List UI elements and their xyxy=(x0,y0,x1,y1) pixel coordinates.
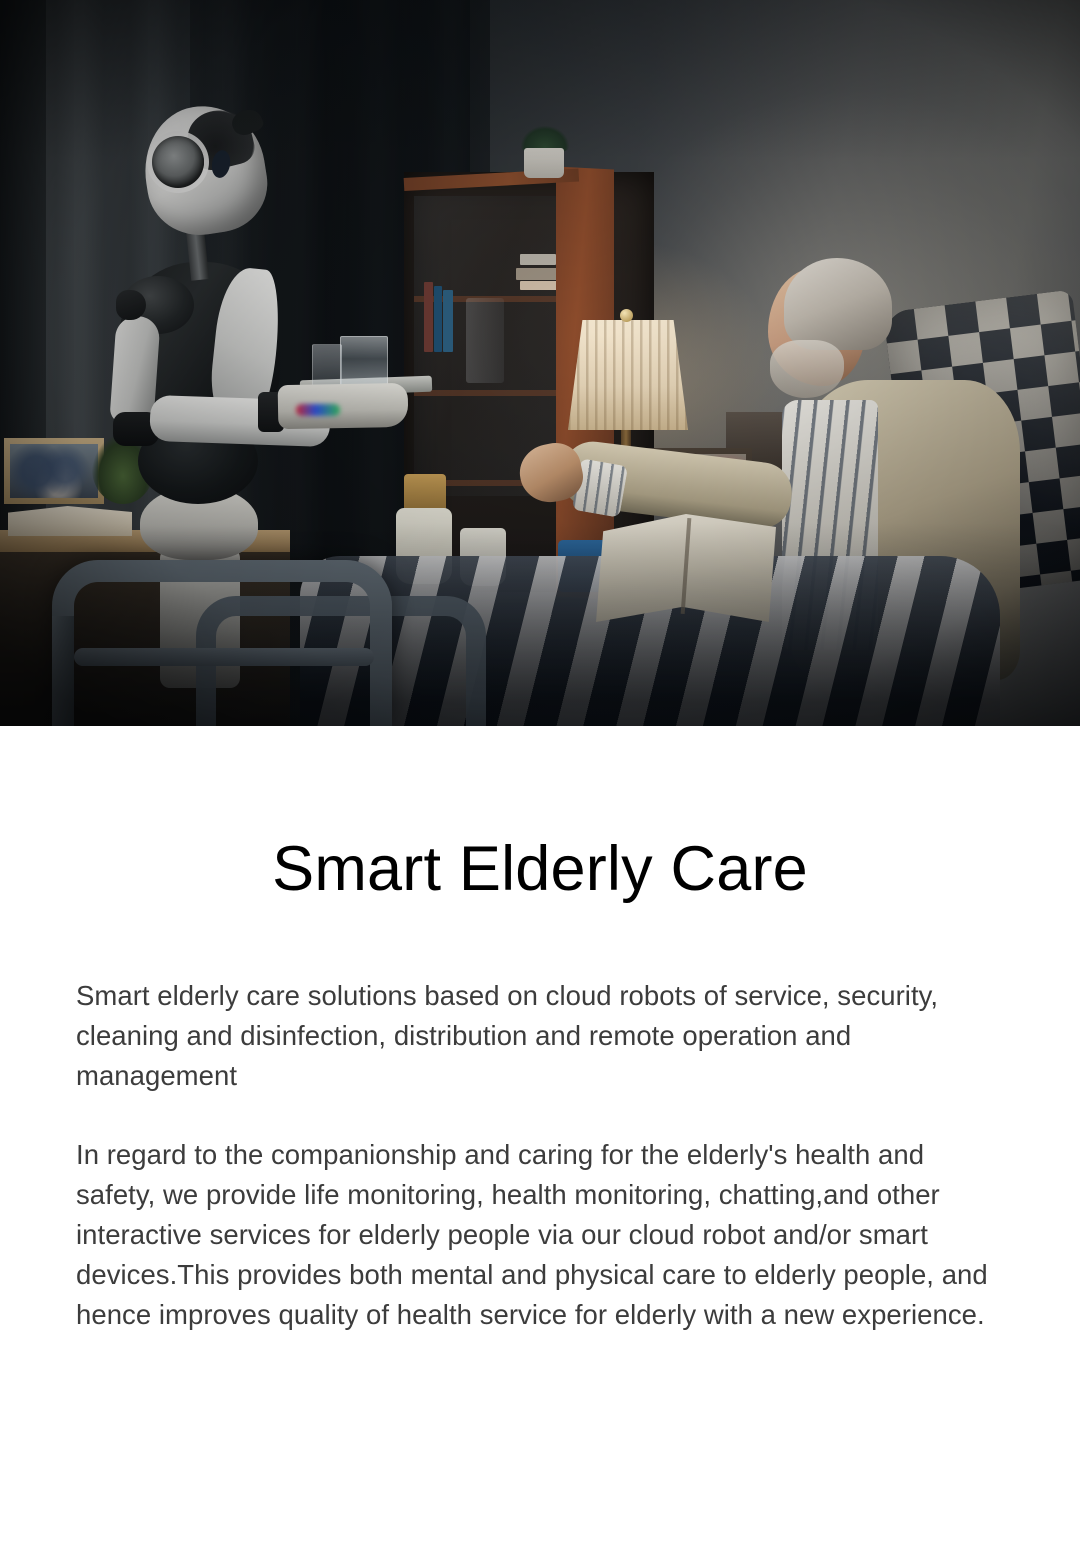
paragraph-1: Smart elderly care solutions based on cl… xyxy=(76,976,1004,1096)
bed-rail-post xyxy=(52,616,74,726)
hero-image xyxy=(0,0,1080,726)
robot-left-hand xyxy=(116,290,146,320)
bed-rail xyxy=(52,560,392,726)
page-title: Smart Elderly Care xyxy=(0,726,1080,901)
bookshelf-board xyxy=(414,390,559,396)
book xyxy=(424,282,433,352)
shelf-object xyxy=(466,298,504,383)
article-content: Smart Elderly Care Smart elderly care so… xyxy=(0,726,1080,1335)
man-hair xyxy=(784,258,892,350)
book xyxy=(443,290,453,352)
potted-plant-pot xyxy=(524,148,564,178)
book xyxy=(434,286,442,352)
book xyxy=(520,254,556,265)
desk-photo-frame xyxy=(4,438,104,504)
book xyxy=(516,268,558,280)
table-lamp-finial xyxy=(620,309,633,322)
water-glass xyxy=(340,336,388,390)
robot-ear-speaker xyxy=(152,136,204,188)
book xyxy=(520,281,558,290)
paragraph-2: In regard to the companionship and carin… xyxy=(76,1135,1004,1335)
table-lamp-shade xyxy=(568,320,688,430)
body-copy: Smart elderly care solutions based on cl… xyxy=(0,976,1080,1335)
desk-photo xyxy=(10,444,98,498)
robot-hand-led-indicator xyxy=(296,404,340,416)
bed-rail-bar xyxy=(74,648,374,666)
